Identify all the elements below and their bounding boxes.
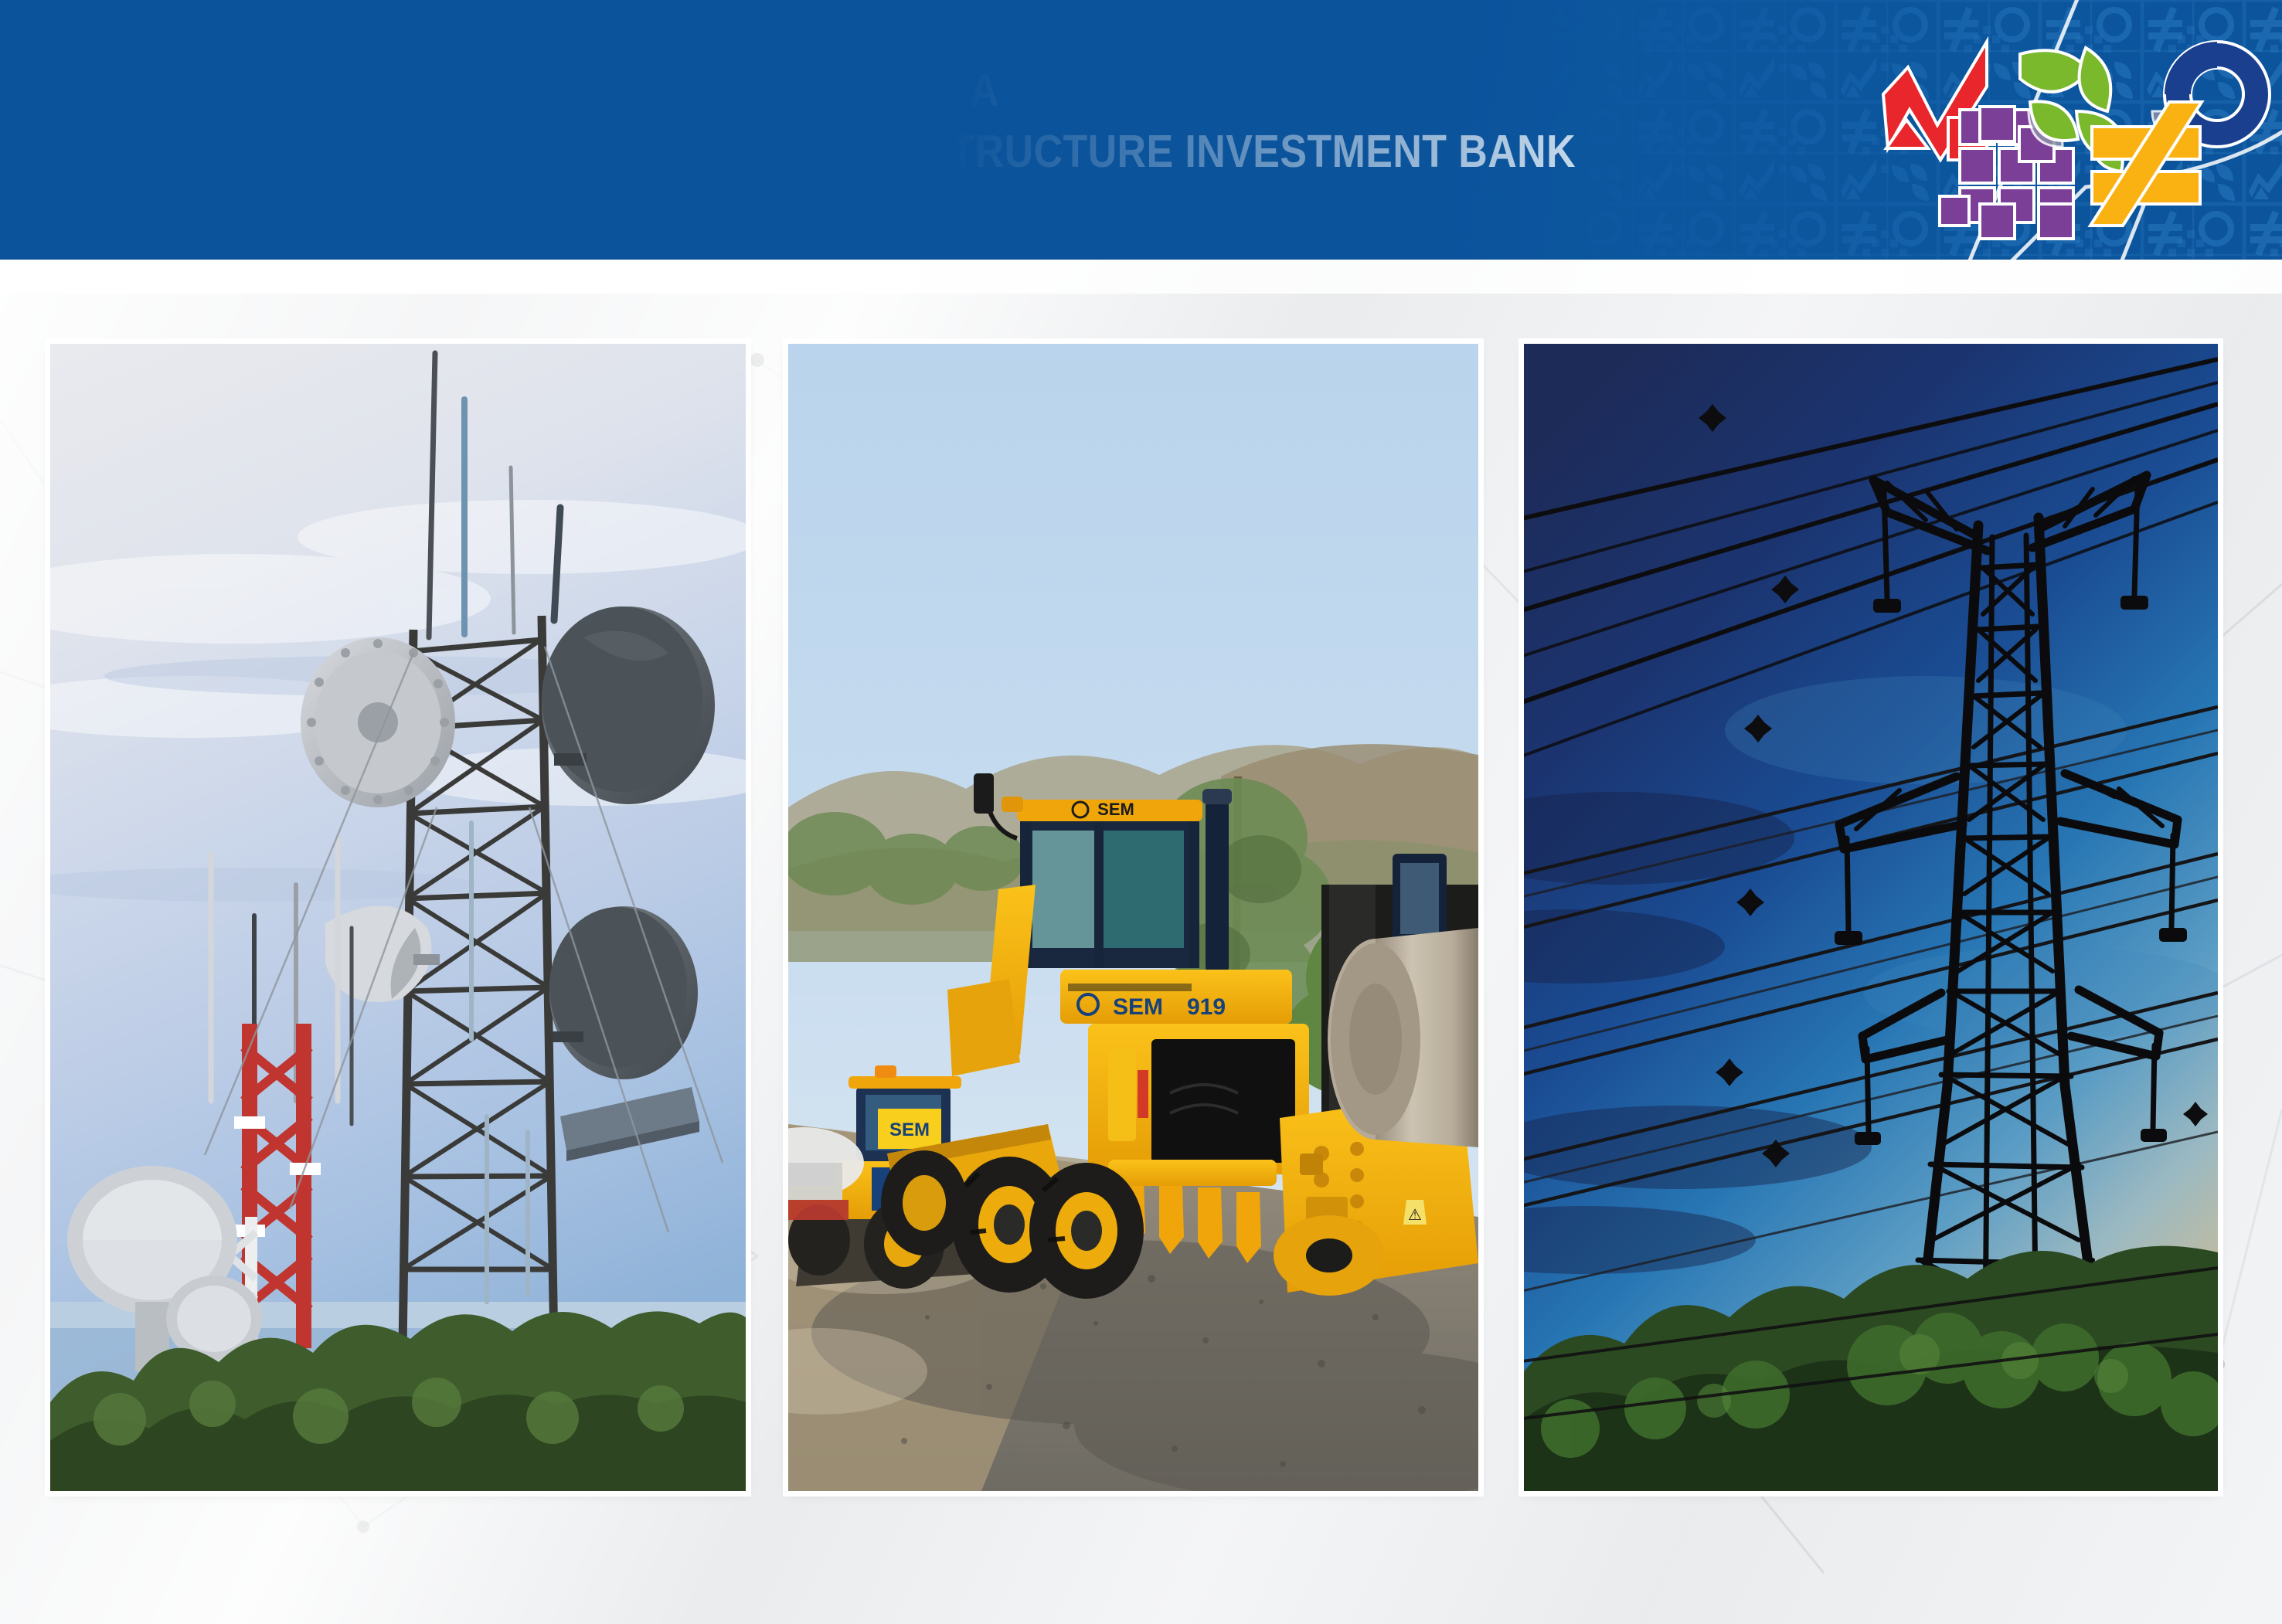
- flag-ring-icon: [46, 17, 278, 249]
- title-line-institution: ASIAN INFRASTRUCTURE INVESTMENT BANK: [661, 129, 1576, 175]
- svg-text:SEM: SEM: [889, 1119, 930, 1140]
- logo-city: WASHINGTON DC: [337, 134, 525, 163]
- photo-telecom-towers: [50, 344, 746, 1491]
- photo-power-transmission-tower: [1524, 344, 2218, 1491]
- content-stage: SEM SEM: [0, 260, 2282, 1624]
- spring-meetings-icon-cluster: [1854, 0, 2282, 260]
- page-title: MADAGASIKARA ASIAN INFRASTRUCTURE INVEST…: [661, 68, 1701, 175]
- photo-road-construction: SEM SEM: [788, 344, 1478, 1491]
- logo-org-line-1: WORLD BANK GROUP: [274, 172, 474, 194]
- svg-text:919: 919: [1187, 994, 1226, 1020]
- svg-text:⚠: ⚠: [1408, 1207, 1422, 1224]
- logo-year: 2023: [274, 134, 323, 163]
- page-header: SPRING MEETINGS 2023WASHINGTON DC WORLD …: [0, 0, 2282, 260]
- logo-line-spring: SPRING: [274, 37, 469, 82]
- spring-meetings-logo-text: SPRING MEETINGS 2023WASHINGTON DC WORLD …: [274, 37, 506, 230]
- logo-org-line-2: INTERNATIONAL MONETARY FUND: [274, 195, 474, 217]
- microwave-dish: [542, 606, 715, 804]
- logo-line-meetings: MEETINGS: [274, 82, 469, 127]
- svg-text:SEM: SEM: [1113, 994, 1163, 1020]
- logo-year-city: 2023WASHINGTON DC: [274, 134, 474, 164]
- title-line-country: MADAGASIKARA: [661, 68, 1576, 114]
- vertical-divider: [585, 40, 588, 221]
- svg-text:SEM: SEM: [1097, 800, 1134, 819]
- logo-pipe-divider: [329, 138, 332, 160]
